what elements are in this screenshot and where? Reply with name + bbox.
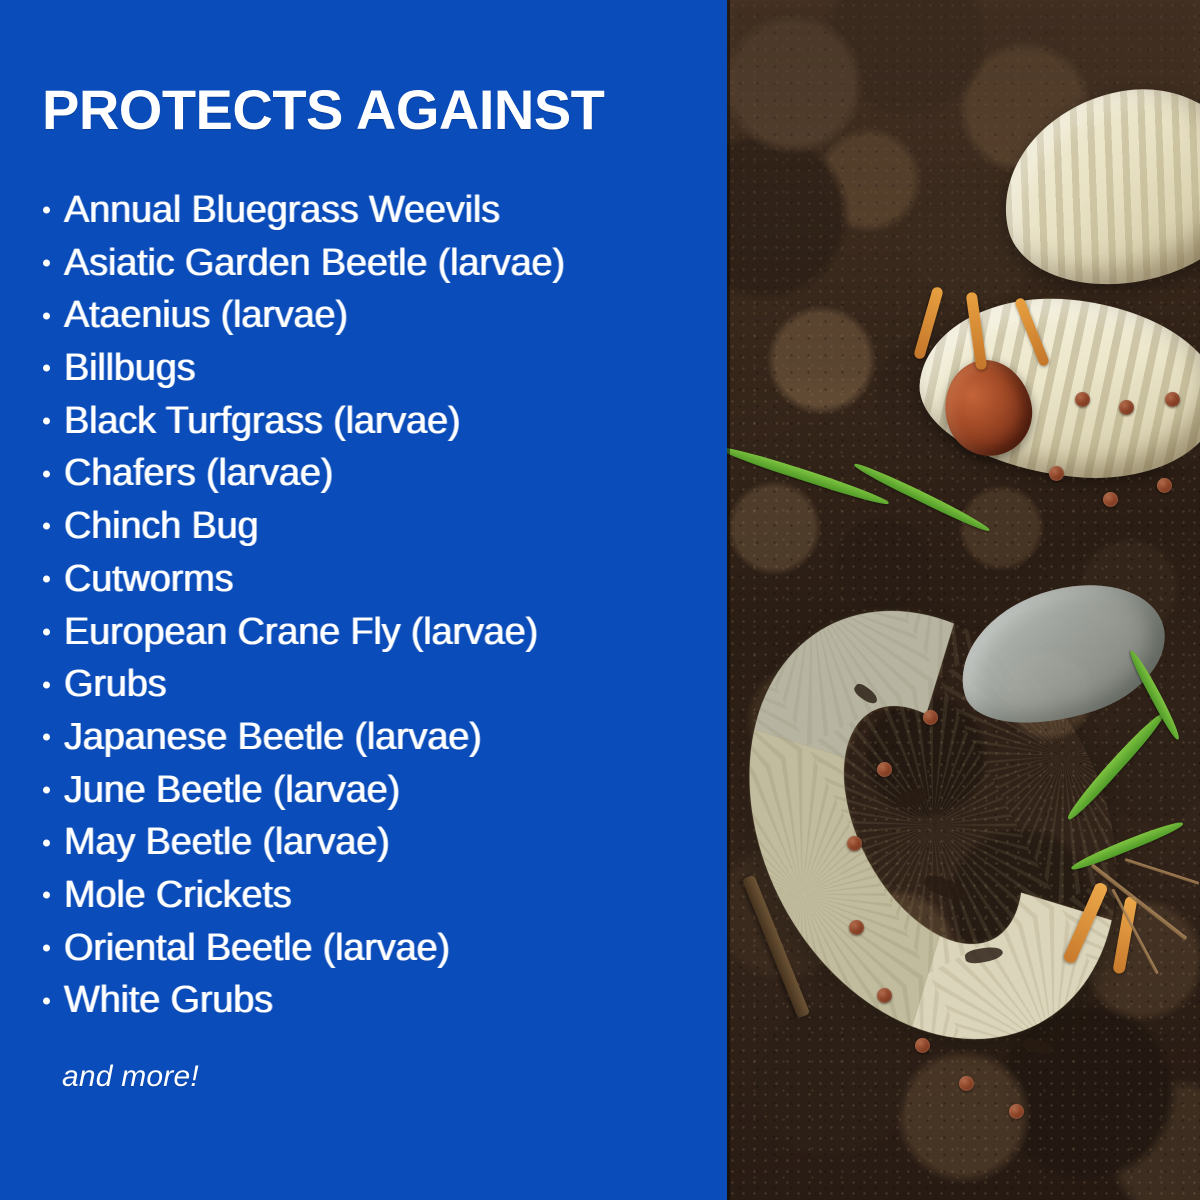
bullet-icon	[43, 892, 50, 899]
pest-label: May Beetle (larvae)	[64, 821, 390, 863]
grub-spiracle	[1009, 1104, 1024, 1119]
list-item: Oriental Beetle (larvae)	[42, 922, 727, 975]
grub-spiracle	[959, 1076, 974, 1091]
list-item: Japanese Beetle (larvae)	[42, 711, 727, 764]
bullet-icon	[43, 312, 50, 319]
grub-spiracle	[1119, 400, 1134, 415]
list-item: Annual Bluegrass Weevils	[42, 184, 727, 237]
pest-list: Annual Bluegrass Weevils Asiatic Garden …	[42, 184, 727, 1027]
list-item: May Beetle (larvae)	[42, 816, 727, 869]
pest-label: White Grubs	[64, 979, 273, 1021]
bullet-icon	[43, 734, 50, 741]
list-item: Black Turfgrass (larvae)	[42, 395, 727, 448]
grub-spiracle	[847, 836, 862, 851]
bullet-icon	[43, 628, 50, 635]
grub-photo	[727, 0, 1200, 1200]
list-item: Asiatic Garden Beetle (larvae)	[42, 237, 727, 290]
list-item: Billbugs	[42, 342, 727, 395]
grub-spiracle	[1103, 492, 1118, 507]
grub-spiracle	[1165, 392, 1180, 407]
bullet-icon	[43, 365, 50, 372]
pest-label: Cutworms	[64, 558, 233, 600]
list-item: Chafers (larvae)	[42, 447, 727, 500]
grub-spiracle	[915, 1038, 930, 1053]
bullet-icon	[43, 681, 50, 688]
grub-spiracle	[877, 762, 892, 777]
pest-label: European Crane Fly (larvae)	[64, 611, 538, 653]
bullet-icon	[43, 418, 50, 425]
bullet-icon	[43, 944, 50, 951]
grub-spiracle	[1049, 466, 1064, 481]
bullet-icon	[43, 576, 50, 583]
grub-spiracle	[923, 710, 938, 725]
bullet-icon	[43, 470, 50, 477]
list-item: Grubs	[42, 658, 727, 711]
page-title: PROTECTS AGAINST	[42, 82, 604, 138]
pest-label: Chinch Bug	[64, 505, 258, 547]
pest-label: Billbugs	[64, 347, 195, 389]
pest-info-panel: PROTECTS AGAINST Annual Bluegrass Weevil…	[0, 0, 727, 1200]
list-item: White Grubs	[42, 974, 727, 1027]
and-more-note: and more!	[62, 1060, 199, 1094]
bullet-icon	[43, 260, 50, 267]
pest-label: Chafers (larvae)	[64, 452, 333, 494]
pest-label: Ataenius (larvae)	[64, 294, 348, 336]
pest-label: Asiatic Garden Beetle (larvae)	[64, 242, 565, 284]
pest-label: Grubs	[64, 663, 166, 705]
panel-divider	[727, 0, 730, 1200]
protects-against-poster: PROTECTS AGAINST Annual Bluegrass Weevil…	[0, 0, 1200, 1200]
bullet-icon	[43, 997, 50, 1004]
list-item: Chinch Bug	[42, 500, 727, 553]
grub-spiracle	[849, 920, 864, 935]
bullet-icon	[43, 523, 50, 530]
bullet-icon	[43, 839, 50, 846]
pest-label: Mole Crickets	[64, 874, 292, 916]
grub-spiracle	[877, 988, 892, 1003]
list-item: Cutworms	[42, 553, 727, 606]
pest-label: Japanese Beetle (larvae)	[64, 716, 482, 758]
list-item: Mole Crickets	[42, 869, 727, 922]
pest-label: Black Turfgrass (larvae)	[64, 400, 460, 442]
grub-spiracle	[1075, 392, 1090, 407]
pest-label: June Beetle (larvae)	[64, 769, 400, 811]
pest-label: Annual Bluegrass Weevils	[64, 189, 500, 231]
panel-content: PROTECTS AGAINST Annual Bluegrass Weevil…	[42, 0, 727, 1200]
bullet-icon	[43, 786, 50, 793]
bullet-icon	[43, 207, 50, 214]
grub-spiracle	[1157, 478, 1172, 493]
list-item: European Crane Fly (larvae)	[42, 606, 727, 659]
list-item: June Beetle (larvae)	[42, 764, 727, 817]
pest-label: Oriental Beetle (larvae)	[64, 927, 450, 969]
list-item: Ataenius (larvae)	[42, 289, 727, 342]
